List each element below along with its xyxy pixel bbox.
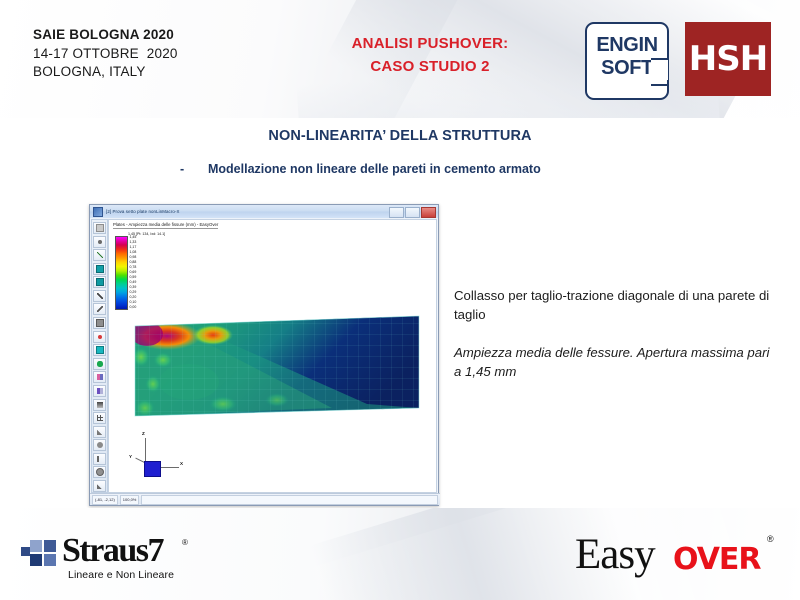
plot-title: Plates - Ampiezza media delle fissure (m…: [113, 222, 218, 229]
legend-tick: 1,08: [130, 251, 137, 255]
easyover-logo-over: OVER: [673, 542, 761, 577]
legend-tick: 0,78: [130, 266, 137, 270]
legend-tick: 0,10: [130, 301, 137, 305]
pencil-icon[interactable]: [93, 290, 106, 302]
enginsoft-logo-notch-inner: [655, 60, 668, 80]
straus7-logo-word: Straus7: [62, 532, 163, 570]
flag-icon[interactable]: [93, 453, 106, 465]
straus7-logo-subtitle: Lineare e Non Lineare: [68, 569, 174, 581]
node-icon[interactable]: [93, 236, 106, 248]
bullet-text: Modellazione non lineare delle pareti in…: [208, 162, 541, 176]
grid-icon[interactable]: [93, 412, 106, 424]
axis-origin-cube: [144, 461, 161, 477]
app-icon: [93, 207, 103, 217]
enginsoft-logo-top: ENGIN: [587, 34, 667, 57]
grid-square: [30, 540, 42, 552]
legend-tick: 0,39: [130, 286, 137, 290]
line-icon[interactable]: [93, 249, 106, 261]
section-title: NON-LINEARITA’ DELLA STRUTTURA: [0, 128, 800, 144]
legend-colorbar: [115, 236, 128, 310]
straus7-logo-grid-icon: [30, 540, 58, 568]
hsh-logo-text: HSH: [689, 39, 767, 79]
model-canvas[interactable]: Plates - Ampiezza media delle fissure (m…: [108, 219, 437, 493]
status-zoom: 100,0%: [120, 495, 140, 505]
presentation-title-line1: ANALISI PUSHOVER:: [300, 32, 560, 55]
status-filler: [141, 495, 438, 505]
description-paragraph-2: Ampiezza media delle fessure. Apertura m…: [454, 343, 774, 381]
legend-tick: 1,17: [130, 246, 137, 250]
axis-x-label: X: [180, 461, 183, 466]
straus7-app-window[interactable]: [2] Prova setto plate nonLinMacro-X: [89, 204, 439, 506]
event-dates: 14-17 OTTOBRE 2020: [33, 45, 178, 64]
legend-tick: 0,49: [130, 281, 137, 285]
status-bar: (-81, -2,12) 100,0%: [90, 493, 440, 505]
cyan-box-icon[interactable]: [93, 344, 106, 356]
maximize-button[interactable]: [405, 207, 420, 218]
minimize-button[interactable]: [389, 207, 404, 218]
chart-icon[interactable]: [93, 480, 106, 492]
window-controls[interactable]: [389, 207, 436, 218]
legend-tick: 0,59: [130, 276, 137, 280]
straus7-registered-mark: ®: [182, 538, 188, 547]
close-button[interactable]: [421, 207, 436, 218]
axis-triad: Z Y X: [131, 434, 191, 480]
enginsoft-logo: ENGIN SOFT: [585, 22, 669, 100]
presentation-title: ANALISI PUSHOVER: CASO STUDIO 2: [300, 32, 560, 79]
hsh-logo: HSH: [685, 22, 771, 96]
legend-body: 1,45 1,33 1,17 1,08 0,98 0,88 0,78 0,69 …: [115, 236, 157, 310]
point-red-icon[interactable]: [93, 331, 106, 343]
easyover-logo: Easy OVER ®: [575, 530, 775, 586]
event-name: SAIE BOLOGNA 2020: [33, 26, 178, 45]
event-location: BOLOGNA, ITALY: [33, 63, 178, 82]
easyover-logo-easy: Easy: [575, 530, 655, 579]
legend-tick: 0,20: [130, 296, 137, 300]
status-coordinates: (-81, -2,12): [92, 495, 118, 505]
render-icon[interactable]: [93, 317, 106, 329]
green-blob-icon[interactable]: [93, 358, 106, 370]
axis-z-label: Z: [142, 431, 145, 436]
legend-tick: 0,69: [130, 271, 137, 275]
grid-square: [44, 554, 56, 566]
graph-icon[interactable]: [93, 426, 106, 438]
measure-icon[interactable]: [93, 303, 106, 315]
grid-square: [30, 554, 42, 566]
axis-y-label: Y: [129, 454, 132, 459]
legend-tick: 1,33: [130, 241, 137, 245]
legend-tick: 1,45: [130, 236, 137, 240]
select-icon[interactable]: [93, 222, 106, 234]
window-title: [2] Prova setto plate nonLinMacro-X: [106, 209, 180, 214]
shear-wall-contour-plot[interactable]: [127, 312, 427, 422]
plate-icon[interactable]: [93, 263, 106, 275]
window-client-area: Plates - Ampiezza media delle fissure (m…: [90, 218, 438, 494]
gauge-icon[interactable]: [93, 466, 106, 478]
contour-svg: [127, 312, 427, 422]
bullet-dash: -: [180, 162, 184, 176]
legend-tick-labels: 1,45 1,33 1,17 1,08 0,98 0,88 0,78 0,69 …: [130, 236, 137, 310]
presentation-title-line2: CASO STUDIO 2: [300, 55, 560, 78]
grid-square: [21, 547, 30, 556]
easyover-registered-mark: ®: [767, 534, 774, 544]
description-paragraph-1: Collasso per taglio-trazione diagonale d…: [454, 286, 774, 324]
window-title-bar[interactable]: [2] Prova setto plate nonLinMacro-X: [90, 205, 438, 219]
description-text-block: Collasso per taglio-trazione diagonale d…: [454, 286, 774, 382]
legend-tick: 0,00: [130, 306, 137, 310]
contour-legend: 1,45 [Pt: 134, Ixd: 14.1] 1,45 1,33 1,17…: [115, 232, 157, 310]
straus7-logo: Straus7 ® Lineare e Non Lineare: [30, 534, 245, 586]
legend-tick: 0,98: [130, 256, 137, 260]
grid-square: [44, 540, 56, 552]
event-info-block: SAIE BOLOGNA 2020 14-17 OTTOBRE 2020 BOL…: [33, 26, 178, 82]
purple-bar-icon[interactable]: [93, 385, 106, 397]
legend-tick: 0,29: [130, 291, 137, 295]
pink-bar-icon[interactable]: [93, 371, 106, 383]
slide: SAIE BOLOGNA 2020 14-17 OTTOBRE 2020 BOL…: [0, 0, 800, 600]
left-toolbar[interactable]: [91, 219, 108, 493]
legend-tick: 0,88: [130, 261, 137, 265]
contour-icon[interactable]: [93, 399, 106, 411]
brick-icon[interactable]: [93, 276, 106, 288]
globe-icon[interactable]: [93, 439, 106, 451]
